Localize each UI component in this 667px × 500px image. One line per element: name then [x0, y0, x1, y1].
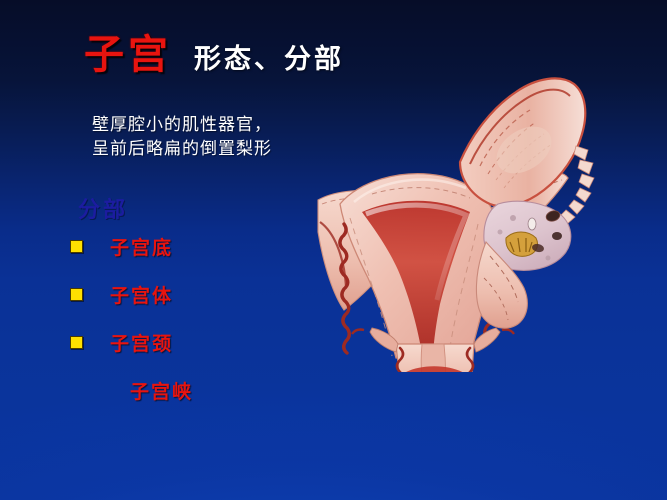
uterus-coronal-section-svg	[310, 72, 610, 372]
title-main-text: 子宫	[84, 22, 172, 80]
section-heading-fenbu: 分部	[78, 192, 128, 224]
title-subtitle-text: 形态、分部	[194, 37, 344, 76]
description-block: 壁厚腔小的肌性器官， 呈前后略扁的倒置梨形	[92, 113, 272, 161]
description-line-1: 壁厚腔小的肌性器官，	[92, 113, 272, 137]
list-item[interactable]: 子宫体	[70, 270, 320, 318]
tube-ampulla-infundibulum	[460, 78, 585, 206]
slide-canvas: 子宫 形态、分部 壁厚腔小的肌性器官， 呈前后略扁的倒置梨形 分部 子宫底 子宫…	[0, 0, 667, 500]
uterus-anatomy-illustration	[310, 72, 610, 372]
list-item[interactable]: 子宫底	[70, 222, 320, 270]
bullet-label-uterine-body: 子宫体	[110, 281, 173, 308]
bullet-label-uterine-isthmus: 子宫峡	[130, 377, 193, 404]
list-item[interactable]: 子宫颈	[70, 318, 320, 366]
bullet-label-uterine-cervix: 子宫颈	[110, 329, 173, 356]
square-bullet-icon	[70, 288, 83, 301]
bullet-label-uterine-fundus: 子宫底	[110, 233, 173, 260]
slide-title: 子宫 形态、分部	[84, 22, 344, 80]
square-bullet-icon	[70, 336, 83, 349]
bullet-list: 子宫底 子宫体 子宫颈 子宫峡	[70, 222, 320, 414]
square-bullet-icon	[70, 240, 83, 253]
cervix-and-vagina	[396, 344, 474, 372]
list-item[interactable]: 子宫峡	[70, 366, 320, 414]
description-line-2: 呈前后略扁的倒置梨形	[92, 137, 272, 161]
